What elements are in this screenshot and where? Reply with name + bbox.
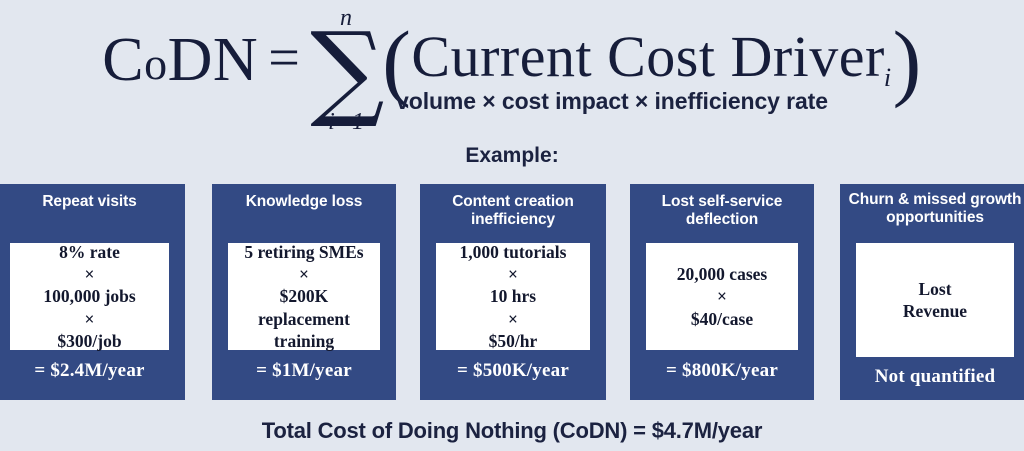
formula-lhs-c: C — [102, 26, 144, 94]
card-result: Not quantified — [844, 366, 1024, 388]
formula-block: CoDN= n ∑ i=1 (Current Cost Driveri) vol… — [0, 0, 1024, 130]
formula-lhs: CoDN — [102, 26, 258, 94]
card-result: = $1M/year — [216, 360, 392, 382]
cost-driver-card-churn-missed-growth: Churn & missed growth opportunities Lost… — [840, 184, 1024, 400]
cost-driver-card-lost-self-service-deflection: Lost self-service deflection 20,000 case… — [630, 184, 814, 400]
card-calculation: Lost Revenue — [903, 278, 967, 322]
card-calculation-box: 1,000 tutorials × 10 hrs × $50/hr — [436, 243, 590, 350]
cost-driver-card-repeat-visits: Repeat visits 8% rate × 100,000 jobs × $… — [0, 184, 185, 400]
card-calculation-box: 5 retiring SMEs × $200K replacement trai… — [228, 243, 380, 350]
card-title: Lost self-service deflection — [636, 193, 808, 230]
formula-term: Current Cost Driver — [411, 24, 884, 89]
card-calculation: 8% rate × 100,000 jobs × $300/job — [43, 241, 135, 352]
card-calculation-box: Lost Revenue — [856, 243, 1014, 357]
card-calculation-box: 20,000 cases × $40/case — [646, 243, 798, 350]
total-codn-line: Total Cost of Doing Nothing (CoDN) = $4.… — [0, 418, 1024, 444]
card-title: Churn & missed growth opportunities — [846, 191, 1024, 228]
card-calculation: 20,000 cases × $40/case — [677, 263, 767, 330]
card-title: Content creation inefficiency — [426, 193, 600, 230]
formula-lhs-rest: DN — [168, 26, 259, 94]
card-title: Repeat visits — [0, 193, 179, 211]
card-calculation: 1,000 tutorials × 10 hrs × $50/hr — [460, 241, 567, 352]
cost-driver-card-content-creation-inefficiency: Content creation inefficiency 1,000 tuto… — [420, 184, 606, 400]
cost-driver-card-knowledge-loss: Knowledge loss 5 retiring SMEs × $200K r… — [212, 184, 396, 400]
formula-subtitle-row: volume × cost impact × inefficiency rate — [0, 88, 1024, 115]
card-title: Knowledge loss — [218, 193, 390, 211]
formula-equals: = — [258, 27, 310, 89]
formula-subtitle: volume × cost impact × inefficiency rate — [396, 88, 828, 115]
card-result: = $800K/year — [634, 360, 810, 382]
card-calculation: 5 retiring SMEs × $200K replacement trai… — [244, 241, 363, 352]
card-result: = $2.4M/year — [0, 360, 181, 382]
card-calculation-box: 8% rate × 100,000 jobs × $300/job — [10, 243, 169, 350]
example-label: Example: — [0, 144, 1024, 168]
cost-driver-cards: Repeat visits 8% rate × 100,000 jobs × $… — [0, 184, 1024, 400]
formula-lhs-small-o: o — [144, 38, 168, 89]
card-result: = $500K/year — [424, 360, 602, 382]
